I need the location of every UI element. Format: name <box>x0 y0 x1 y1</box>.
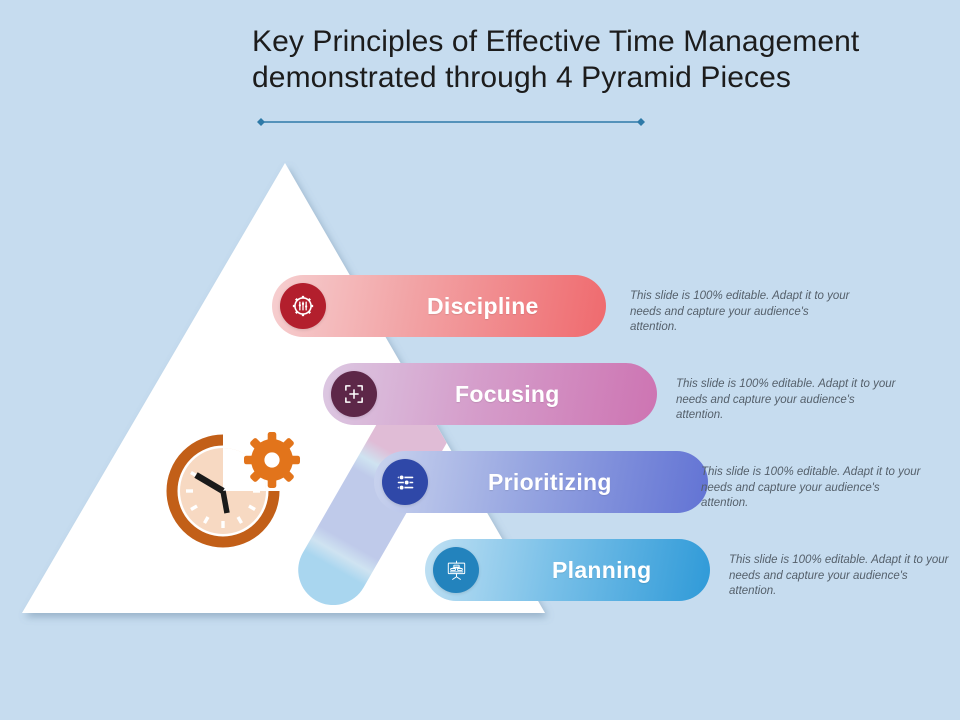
ribbon-label-planning: Planning <box>552 539 652 601</box>
description-prioritizing: This slide is 100% editable. Adapt it to… <box>701 465 923 512</box>
description-discipline: This slide is 100% editable. Adapt it to… <box>630 289 852 336</box>
description-focusing: This slide is 100% editable. Adapt it to… <box>676 377 898 424</box>
ribbon-label-prioritizing: Prioritizing <box>488 451 612 513</box>
focus-target-icon[interactable] <box>331 371 377 417</box>
settings-gear-icon[interactable] <box>280 283 326 329</box>
ribbon-label-focusing: Focusing <box>455 363 560 425</box>
description-planning: This slide is 100% editable. Adapt it to… <box>729 553 951 600</box>
gear-icon <box>244 432 300 488</box>
sliders-icon[interactable] <box>382 459 428 505</box>
clock-and-gear-illustration <box>163 412 309 548</box>
pyramid-graphic <box>0 0 960 720</box>
presentation-board-icon[interactable] <box>433 547 479 593</box>
ribbon-label-discipline: Discipline <box>427 275 539 337</box>
slide-canvas: Key Principles of Effective Time Managem… <box>0 0 960 720</box>
